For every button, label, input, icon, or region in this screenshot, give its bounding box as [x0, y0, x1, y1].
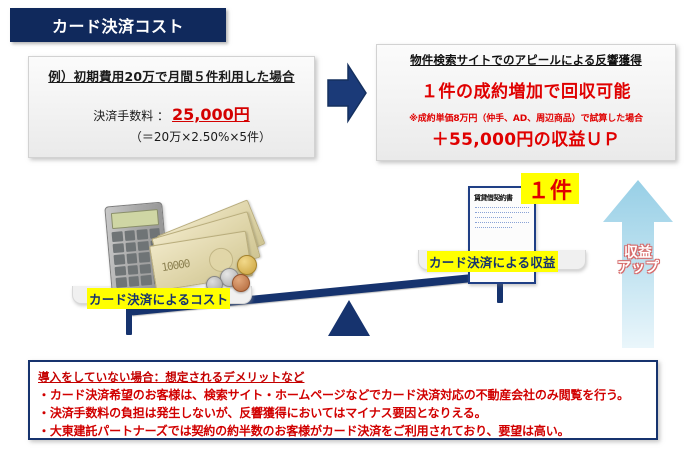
- doc-line: [475, 217, 512, 218]
- cost-formula: （＝20万×2.50%×5件）: [39, 128, 304, 145]
- notes-panel: 導入をしていない場合：想定されるデメリットなど ・カード決済希望のお客様は、検索…: [28, 360, 658, 440]
- banknote-denomination: 10000: [161, 257, 191, 274]
- scale-left-label: カード決済によるコスト: [87, 288, 230, 309]
- revenue-up-line2: アップ: [607, 261, 669, 276]
- calculator-money-illustration: 10000: [100, 198, 275, 296]
- gain-panel-main: １件の成約増加で回収可能: [385, 77, 667, 102]
- cost-fee-row: 決済手数料 ：25,000円: [39, 101, 304, 125]
- doc-line: [475, 227, 512, 228]
- gain-panel-heading: 物件検索サイトでのアピールによる反響獲得: [385, 52, 667, 68]
- doc-line: [475, 207, 529, 208]
- gain-panel-total: ＋55,000円の収益ＵＰ: [385, 125, 667, 150]
- notes-line: ・決済手数料の負担は発生しないが、反響獲得においてはマイナス要因となりえる。: [38, 404, 648, 421]
- count-badge-text: １件: [527, 173, 572, 205]
- cost-panel: 例）初期費用20万で月間５件利用した場合 決済手数料 ：25,000円 （＝20…: [28, 56, 315, 158]
- calculator-screen: [111, 209, 159, 229]
- coin-icon: [232, 274, 250, 292]
- doc-line: [475, 212, 529, 213]
- count-badge: １件: [521, 173, 579, 204]
- notes-line: ・カード決済希望のお客様は、検索サイト・ホームページなどでカード決済対応の不動産…: [38, 386, 648, 403]
- notes-heading: 導入をしていない場合：想定されるデメリットなど: [38, 369, 648, 385]
- revenue-up-line1: 収益: [607, 246, 669, 261]
- gain-panel-note: ※成約単価8万円（仲手、AD、周辺商品）で試算した場合: [385, 111, 667, 124]
- scale-right-label: カード決済による収益: [427, 251, 558, 272]
- doc-line: [475, 222, 529, 223]
- cost-panel-heading: 例）初期費用20万で月間５件利用した場合: [39, 66, 304, 85]
- page-title: カード決済コスト: [10, 8, 226, 42]
- scale-fulcrum: [328, 300, 370, 336]
- page-title-text: カード決済コスト: [52, 13, 184, 37]
- cost-fee-value: 25,000円: [172, 105, 250, 124]
- cost-fee-label: 決済手数料 ：: [93, 109, 169, 123]
- notes-line: ・大東建託パートナーズでは契約の約半数のお客様がカード決済をご利用されており、要…: [38, 422, 648, 439]
- revenue-up-arrow-label: 収益 アップ: [607, 246, 669, 275]
- coin-icon: [237, 255, 257, 275]
- gain-panel: 物件検索サイトでのアピールによる反響獲得 １件の成約増加で回収可能 ※成約単価8…: [376, 44, 676, 161]
- right-arrow-icon: [326, 62, 368, 124]
